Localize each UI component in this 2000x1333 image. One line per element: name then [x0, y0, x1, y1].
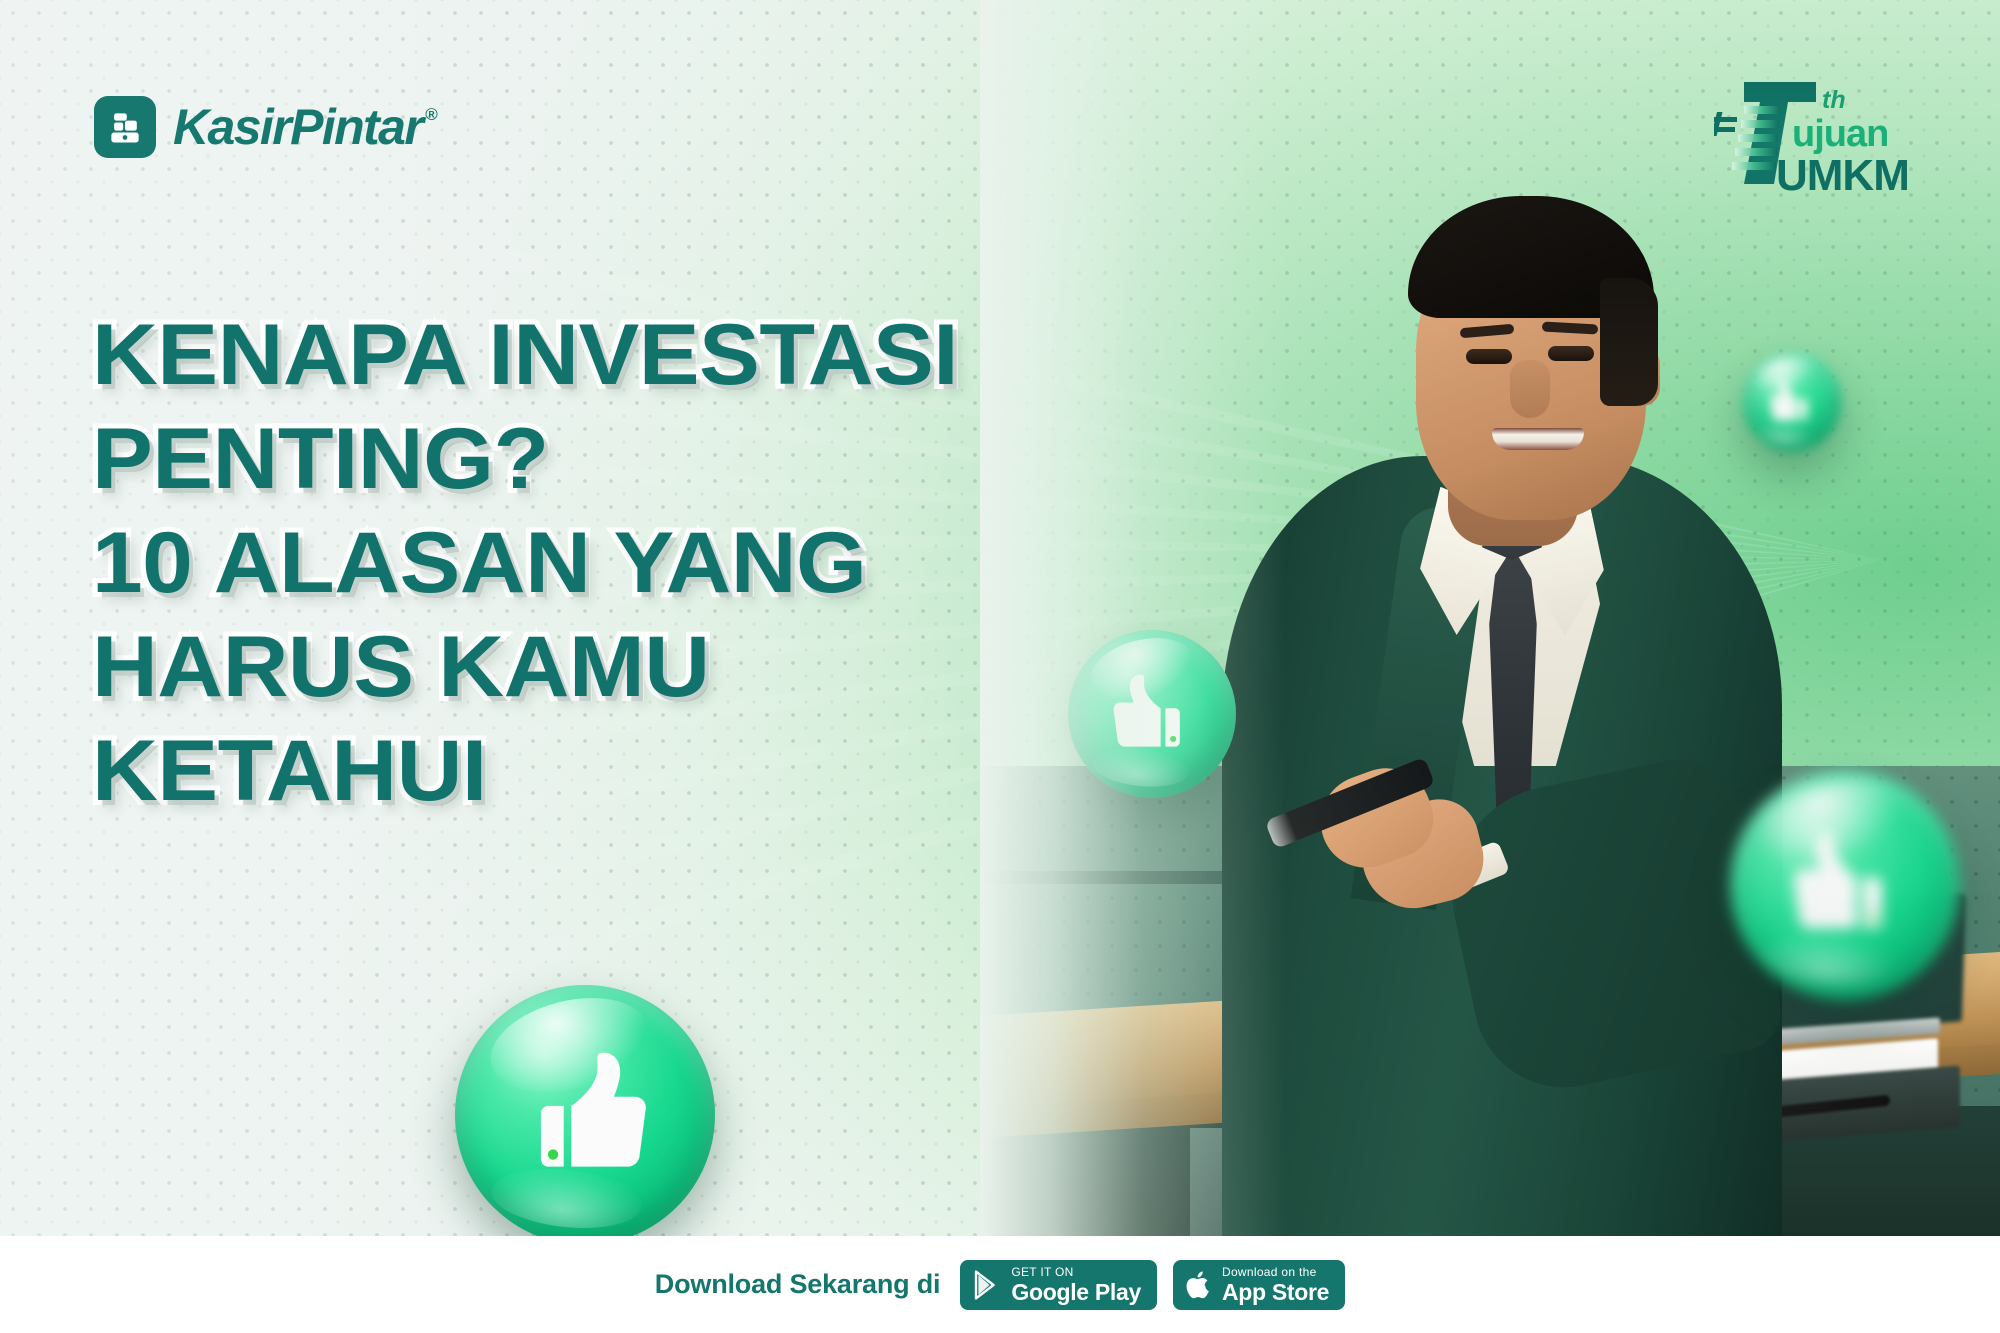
google-play-text: GET IT ON Google Play — [1011, 1266, 1141, 1304]
apple-icon — [1186, 1270, 1212, 1300]
thumbs-up-badge-blur-1 — [1730, 770, 1960, 1000]
headline-line-4: HARUS KAMU — [92, 624, 1279, 710]
headline-line-3: 10 ALASAN YANG — [92, 520, 1279, 606]
smiling-mouth — [1492, 428, 1584, 450]
registered-mark: ® — [425, 106, 436, 123]
headline-line-1: KENAPA INVESTASI — [92, 312, 1279, 398]
google-play-top: GET IT ON — [1011, 1266, 1141, 1278]
word-tujuan: ujuan — [1792, 113, 1888, 155]
thumbs-up-badge-large — [455, 985, 715, 1236]
thumbs-up-badge-blur-2 — [1742, 352, 1842, 452]
google-play-button[interactable]: GET IT ON Google Play — [960, 1260, 1157, 1310]
google-play-icon — [973, 1270, 1001, 1300]
headline-line-5: KETAHUI — [92, 728, 1279, 814]
google-play-main: Google Play — [1011, 1281, 1141, 1304]
hash-symbol — [1714, 112, 1737, 136]
thumbs-up-icon — [1781, 821, 1909, 949]
nose — [1510, 360, 1550, 418]
promo-banner: KasirPintar ® — [0, 0, 2000, 1333]
eye-right — [1548, 346, 1594, 361]
headline-line-2: PENTING? — [92, 416, 1279, 502]
download-label: Download Sekarang di — [655, 1269, 941, 1300]
anniversary-7th-tujuan-umkm-graphic: th ujuan UMKM — [1714, 72, 1940, 196]
hair-sideburn — [1600, 278, 1658, 406]
logo-text: KasirPintar — [173, 102, 422, 152]
download-bar: Download Sekarang di GET IT ON Google Pl… — [0, 1236, 2000, 1333]
app-store-top: Download on the — [1222, 1266, 1329, 1278]
kasirpintar-logo[interactable]: KasirPintar ® — [94, 96, 436, 158]
app-store-text: Download on the App Store — [1222, 1266, 1329, 1304]
thumbs-up-icon — [1765, 375, 1819, 429]
cash-register-glyph — [105, 107, 145, 147]
word-umkm: UMKM — [1776, 151, 1909, 196]
cash-register-icon — [94, 96, 156, 158]
app-store-button[interactable]: Download on the App Store — [1173, 1260, 1345, 1310]
app-store-main: App Store — [1222, 1281, 1329, 1304]
ordinal-th: th — [1822, 86, 1846, 114]
thumbs-up-icon — [509, 1039, 661, 1191]
page-title: KENAPA INVESTASI PENTING? 10 ALASAN YANG… — [92, 312, 1212, 832]
logo-wordmark: KasirPintar ® — [173, 102, 436, 152]
eye-left — [1466, 349, 1512, 364]
anniversary-badge: th ujuan UMKM — [1714, 72, 1940, 196]
